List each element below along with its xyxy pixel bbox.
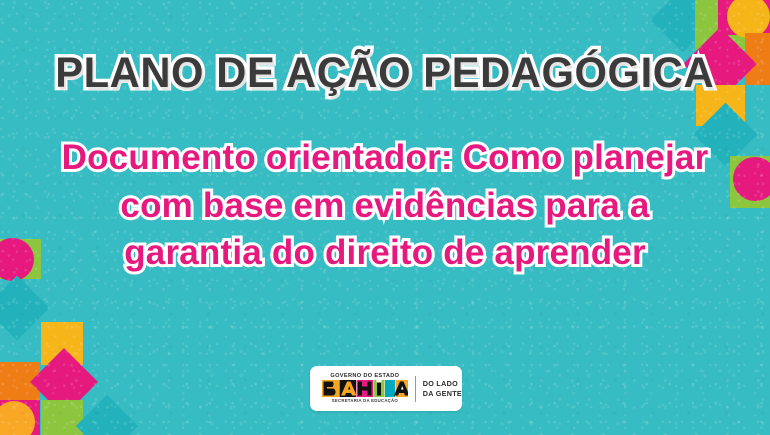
logo-government-line: GOVERNO DO ESTADO bbox=[330, 374, 399, 380]
page-subtitle: Documento orientador: Como planejar com … bbox=[60, 134, 710, 277]
teal-diamond-icon bbox=[76, 395, 138, 435]
green-square-icon bbox=[41, 400, 83, 435]
bahia-wordmark-icon bbox=[322, 380, 408, 397]
logo-tagline-line1: DO LADO bbox=[423, 379, 462, 389]
logo-primary-lockup: GOVERNO DO ESTADO bbox=[310, 374, 413, 404]
page-subtitle-text: Documento orientador: Como planejar com … bbox=[60, 134, 710, 277]
logo-secretariat-line: SECRETARIA DA EDUCAÇÃO bbox=[332, 399, 398, 403]
logo-bahia-wordmark bbox=[322, 380, 408, 397]
pink-circle-icon bbox=[733, 157, 770, 201]
slide-canvas: PLANO DE AÇÃO PEDAGÓGICA Documento orien… bbox=[0, 0, 770, 435]
logo-tagline-line2: DA GENTE bbox=[423, 389, 462, 399]
page-title-text: PLANO DE AÇÃO PEDAGÓGICA bbox=[56, 52, 715, 96]
logo-tagline: DO LADO DA GENTE bbox=[423, 379, 462, 398]
bahia-government-logo: GOVERNO DO ESTADO bbox=[310, 366, 462, 411]
logo-divider bbox=[415, 376, 416, 402]
page-title: PLANO DE AÇÃO PEDAGÓGICA bbox=[0, 52, 770, 96]
